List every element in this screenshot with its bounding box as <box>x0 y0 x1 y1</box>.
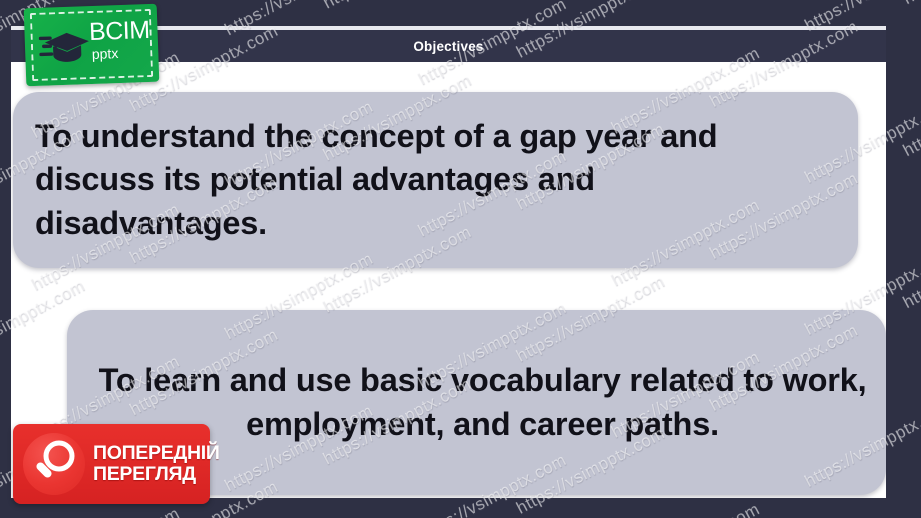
page-title: Objectives <box>413 39 483 54</box>
magnifier-icon <box>23 433 85 495</box>
preview-badge[interactable]: ПОПЕРЕДНІЙ ПЕРЕГЛЯД <box>13 424 210 504</box>
objective-box-1: To understand the concept of a gap year … <box>13 92 858 268</box>
slide-frame: Objectives To understand the concept of … <box>0 0 921 518</box>
objective-2-text: To learn and use basic vocabulary relate… <box>97 359 868 445</box>
logo-subtitle: pptx <box>92 45 151 61</box>
preview-icon-circle <box>23 433 85 495</box>
logo-title: BCIM <box>89 18 150 45</box>
preview-badge-line-1: ПОПЕРЕДНІЙ <box>93 443 220 464</box>
bcim-logo: BCIM pptx <box>24 4 160 87</box>
preview-badge-label: ПОПЕРЕДНІЙ ПЕРЕГЛЯД <box>93 443 220 484</box>
logo-text-group: BCIM pptx <box>89 18 151 61</box>
preview-badge-line-2: ПЕРЕГЛЯД <box>93 464 220 485</box>
objective-1-text: To understand the concept of a gap year … <box>35 115 828 245</box>
